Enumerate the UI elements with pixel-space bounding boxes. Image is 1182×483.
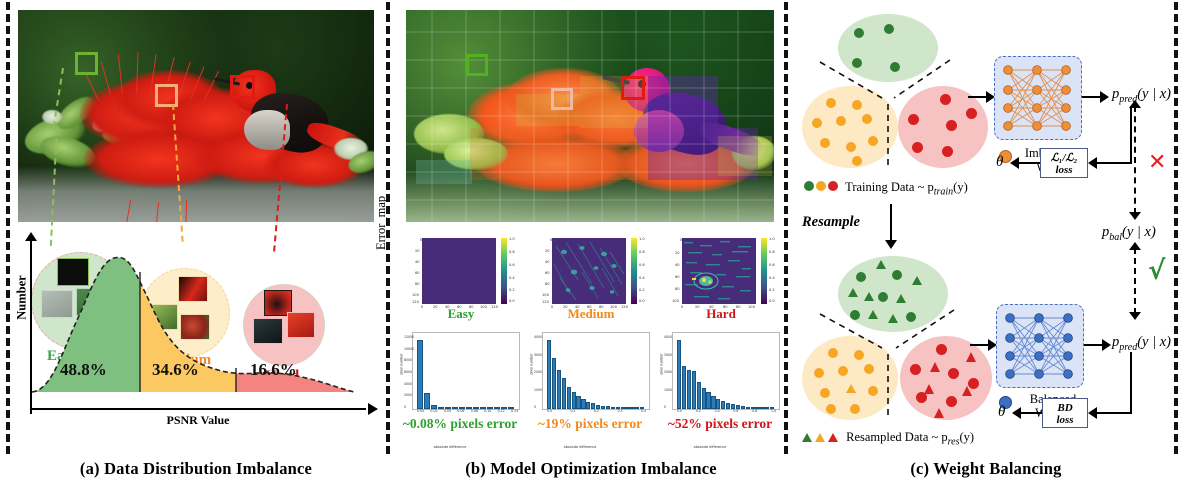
histogram-bar (581, 399, 585, 409)
top-theta-arrow (1018, 162, 1040, 164)
histogram-ytick: 6000 (404, 370, 412, 374)
medium-box (551, 88, 573, 110)
histogram-ytick: 4000 (664, 335, 672, 339)
top-dashed-arrow-down (1129, 212, 1141, 220)
error-map-hard: 0 20 40 60 80 100 0 20 40 60 80 100 1.0 … (662, 236, 780, 328)
histogram-ytick: 3000 (664, 353, 672, 357)
bottom-feedback-down (1130, 352, 1132, 414)
legend-triangle-green (802, 433, 812, 442)
histogram-xtick: 0.4 (715, 409, 720, 413)
histogram-xtick: 0.02 (430, 409, 437, 413)
histogram-bar (572, 392, 576, 409)
panel-b-caption: (b) Model Optimization Imbalance (392, 459, 790, 479)
legend-triangle-orange (815, 433, 825, 442)
top-theta-arrowhead (1010, 157, 1019, 169)
figure-root: Easy Medium Hard (0, 0, 1182, 483)
theta-bottom: θ (998, 404, 1005, 421)
panel-a-data-distribution: Easy Medium Hard (0, 0, 392, 483)
histogram-bar (562, 378, 566, 409)
top-legend: Training Data ~ ptrain(y) (804, 180, 968, 198)
panel-c-weight-balancing: Training Data ~ ptrain(y) (790, 0, 1182, 483)
y-axis-label: Number (15, 275, 30, 319)
source-photo (18, 10, 374, 222)
error-map-medium: 0 20 40 60 80 100 120 0 20 40 60 80 100 … (532, 236, 650, 328)
error-map-row: 0 20 40 60 80 100 120 0 20 40 60 80 100 … (392, 236, 790, 328)
histogram-bar (706, 392, 710, 409)
bottom-legend-label: Resampled Data ~ p (846, 430, 948, 444)
bottom-output-arrow (1084, 344, 1104, 346)
histogram-xtick: 0.6 (733, 409, 738, 413)
histogram-bar (687, 370, 691, 409)
top-dashed-link (1134, 106, 1136, 214)
histogram-ytick: 12000 (404, 335, 414, 339)
easy-histogram-caption: ~0.08% pixels error (396, 416, 524, 432)
histogram-xtick: 0.3 (618, 409, 623, 413)
p-pred-top: ppred(y | x) (1112, 86, 1171, 105)
legend-dot-red (828, 181, 838, 191)
easy-histogram-plot: 0200040006000800010000120000.000.020.040… (412, 332, 520, 410)
top-output-arrowhead (1100, 91, 1109, 103)
histogram-bar (682, 366, 686, 409)
bottom-dashed-arrow-down (1129, 312, 1141, 320)
hard-histogram-plot: 010002000300040000.00.20.40.60.81.0 (672, 332, 780, 410)
histogram-xtick: 0.08 (471, 409, 478, 413)
histogram-ytick: 0 (534, 405, 536, 409)
histogram-xtick: 0.00 (417, 409, 424, 413)
hard-error-texture (682, 238, 756, 304)
easy-box (75, 52, 98, 75)
histogram-bar (692, 371, 696, 409)
histogram-bar (765, 407, 769, 409)
histogram-ytick: 2000 (404, 393, 412, 397)
gridded-error-photo (406, 10, 774, 222)
histogram-bar (557, 370, 561, 409)
check-mark-icon: √ (1148, 256, 1165, 286)
bottom-legend: Resampled Data ~ pres(y) (802, 430, 974, 448)
top-dashed-arrow-up (1129, 100, 1141, 108)
bottom-theta-arrow (1020, 412, 1042, 414)
histogram-xtick: 0.2 (696, 409, 701, 413)
histogram-ytick: 4000 (404, 382, 412, 386)
bottom-legend-sub: res (948, 437, 960, 448)
histogram-bar (697, 382, 701, 409)
histogram-ytick: 1000 (534, 388, 542, 392)
histogram-bar (630, 407, 634, 409)
histogram-bar (716, 399, 720, 409)
histogram-bar (741, 406, 745, 409)
l1-l2-loss-box: ℒ₁/ℒ₂loss (1040, 148, 1088, 178)
histogram-ytick: 10000 (404, 347, 414, 351)
histogram-bar (711, 396, 715, 409)
histogram-ytick: 4000 (534, 335, 542, 339)
panel-c-caption: (c) Weight Balancing (790, 459, 1182, 479)
histogram-xtick: 0.0 (547, 409, 552, 413)
histogram-bar (760, 407, 764, 409)
hard-percentage: 16.6% (250, 360, 297, 380)
histogram-ytick: 2000 (534, 370, 542, 374)
error-map-easy: 0 20 40 60 80 100 120 0 20 40 60 80 100 … (402, 236, 520, 328)
histogram-bar (702, 388, 706, 409)
histogram-bar (606, 406, 610, 409)
patch-grid (406, 10, 774, 222)
bottom-legend-tail: (y) (960, 430, 975, 444)
bottom-feedback-left (1096, 412, 1132, 414)
medium-histogram-plot: 010002000300040000.00.10.20.30.4 (542, 332, 650, 410)
top-feedback-down (1130, 106, 1132, 164)
bottom-dashed-arrow-up (1129, 242, 1141, 250)
histogram-xtick: 0.14 (511, 409, 518, 413)
histogram-bar (677, 340, 681, 409)
bottom-input-arrow (970, 344, 990, 346)
legend-triangle-red (828, 433, 838, 442)
histogram-ytick: 1000 (664, 388, 672, 392)
bottom-theta-arrowhead (1012, 407, 1021, 419)
top-feedback-arrowhead (1088, 157, 1097, 169)
histogram-bar (625, 407, 629, 409)
histogram-xtick: 0.04 (444, 409, 451, 413)
histogram-xtick: 0.06 (457, 409, 464, 413)
histogram-ytick: 3000 (534, 353, 542, 357)
panel-a-caption: (a) Data Distribution Imbalance (0, 459, 392, 479)
easy-histogram: 0200040006000800010000120000.000.020.040… (396, 332, 524, 442)
bottom-output-arrowhead (1102, 339, 1111, 351)
hard-histogram: 010002000300040000.00.20.40.60.81.0 pixe… (656, 332, 784, 442)
bottom-cluster-dividers (790, 256, 1000, 436)
error-map-axis-label: Error_map (374, 196, 389, 250)
x-axis-label: PSNR Value (18, 413, 378, 428)
histogram-bar (424, 393, 430, 409)
distribution-curve (18, 232, 378, 410)
medium-histogram: 010002000300040000.00.10.20.30.4 pixel n… (526, 332, 654, 442)
histogram-bar (576, 396, 580, 409)
top-legend-label: Training Data ~ p (845, 180, 934, 194)
top-output-arrow (1082, 96, 1102, 98)
medium-error-texture (552, 238, 626, 304)
histogram-xtick: 0.12 (498, 409, 505, 413)
p-pred-bottom: ppred(y | x) (1112, 334, 1171, 353)
medium-box (155, 84, 178, 107)
resample-label: Resample (802, 214, 860, 231)
error-map-label-easy: Easy (402, 306, 520, 322)
histogram-bar (721, 401, 725, 409)
easy-percentage: 48.8% (60, 360, 107, 380)
bottom-feedback-arrowhead (1088, 407, 1097, 419)
hard-box (621, 76, 645, 100)
top-legend-sub: train (934, 187, 953, 198)
hard-box (230, 75, 255, 99)
histogram-ytick: 8000 (404, 358, 412, 362)
resample-arrow (890, 204, 892, 242)
cross-mark-icon: ✕ (1148, 150, 1166, 175)
easy-box (466, 54, 488, 76)
histogram-ytick: 0 (664, 405, 666, 409)
histogram-bar (746, 407, 750, 409)
histogram-ytick: 0 (404, 405, 406, 409)
histogram-bar (417, 340, 423, 409)
top-feedback-left (1096, 162, 1132, 164)
histogram-row: 0200040006000800010000120000.000.020.040… (392, 332, 790, 442)
histogram-xtick: 0.8 (752, 409, 757, 413)
medium-histogram-caption: ~19% pixels error (526, 416, 654, 432)
bottom-dashed-link (1134, 248, 1136, 314)
top-legend-tail: (y) (953, 180, 968, 194)
histogram-bar (601, 406, 605, 409)
histogram-xtick: 0.0 (677, 409, 682, 413)
error-map-label-medium: Medium (532, 306, 650, 322)
imbalanced-network-edges (994, 56, 1080, 138)
legend-dot-green (804, 181, 814, 191)
histogram-bar (611, 407, 615, 409)
p-bal: pbal(y | x) (1102, 224, 1156, 243)
histogram-xtick: 0.10 (484, 409, 491, 413)
histogram-bar (567, 387, 571, 410)
bd-loss-box: BDloss (1042, 398, 1088, 428)
error-map-label-hard: Hard (662, 306, 780, 322)
histogram-bar (547, 340, 551, 409)
theta-top: θ (996, 154, 1003, 171)
balanced-network-edges (996, 304, 1082, 386)
histogram-bar (586, 402, 590, 410)
hard-histogram-caption: ~52% pixels error (656, 416, 784, 432)
resample-arrowhead (885, 240, 897, 249)
histogram-xtick: 0.1 (571, 409, 576, 413)
medium-percentage: 34.6% (152, 360, 199, 380)
histogram-xtick: 0.2 (594, 409, 599, 413)
top-input-arrow (968, 96, 988, 98)
histogram-bar (552, 358, 556, 409)
panel-b-model-optimization: Error_map 0 20 40 60 80 100 120 0 20 40 … (392, 0, 790, 483)
histogram-bar (635, 407, 639, 409)
histogram-xtick: 1.0 (771, 409, 776, 413)
histogram-xtick: 0.4 (641, 409, 646, 413)
psnr-distribution-chart: Number PSNR Value 48.8% 34.6% 16.6% (18, 232, 378, 428)
histogram-ytick: 2000 (664, 370, 672, 374)
legend-dot-orange (816, 181, 826, 191)
histogram-bar (726, 403, 730, 409)
top-cluster-dividers (790, 0, 990, 190)
